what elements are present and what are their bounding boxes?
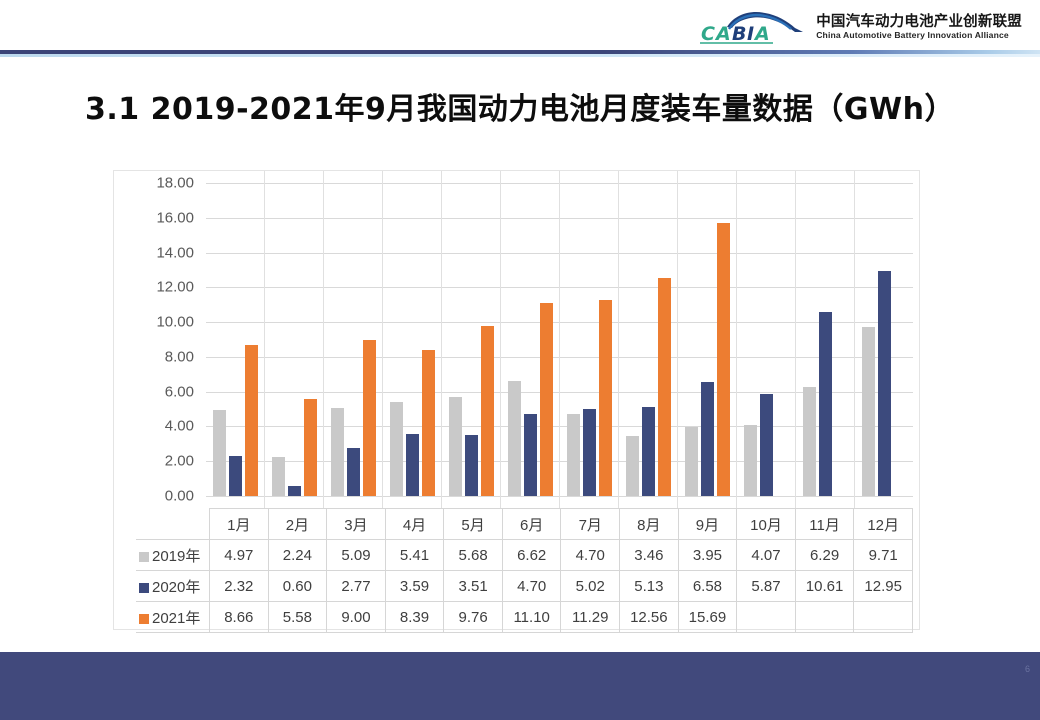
chart-panel: 18.0016.0014.0012.0010.008.006.004.002.0…	[113, 170, 920, 630]
bar-2019年-7月	[567, 414, 580, 496]
table-cell: 3.51	[444, 571, 503, 602]
table-cell: 6.29	[795, 540, 854, 571]
y-axis-tick-label: 12.00	[156, 279, 194, 296]
y-axis-tick-label: 6.00	[165, 383, 194, 400]
table-column-header: 9月	[678, 509, 737, 540]
bar-2021年-9月	[717, 223, 730, 496]
table-cell: 5.13	[620, 571, 679, 602]
table-column-header: 4月	[385, 509, 444, 540]
page-number: 6	[1025, 664, 1030, 674]
bar-2020年-6月	[524, 414, 537, 496]
table-cell: 6.62	[502, 540, 561, 571]
bar-group-12月	[855, 171, 913, 508]
table-column-header: 10月	[737, 509, 796, 540]
table-cell	[737, 602, 796, 633]
table-cell: 5.09	[327, 540, 386, 571]
cabia-name-en: China Automotive Battery Innovation Alli…	[816, 31, 1022, 41]
bar-2021年-4月	[422, 350, 435, 496]
bar-2019年-1月	[213, 410, 226, 496]
bar-group-5月	[442, 171, 501, 508]
table-column-header: 8月	[620, 509, 679, 540]
table-cell: 11.10	[502, 602, 561, 633]
y-axis-tick-label: 8.00	[165, 348, 194, 365]
bar-2020年-7月	[583, 409, 596, 496]
bar-2020年-4月	[406, 434, 419, 496]
table-cell: 15.69	[678, 602, 737, 633]
table-column-header: 6月	[502, 509, 561, 540]
bar-group-3月	[324, 171, 383, 508]
table-column-header: 7月	[561, 509, 620, 540]
bar-2020年-8月	[642, 407, 655, 496]
y-axis: 18.0016.0014.0012.0010.008.006.004.002.0…	[114, 171, 200, 508]
legend-swatch-icon	[139, 614, 149, 624]
svg-text:I: I	[747, 23, 754, 45]
bar-2019年-2月	[272, 457, 285, 496]
bar-group-2月	[265, 171, 324, 508]
table-cell	[854, 602, 913, 633]
bar-2021年-2月	[304, 399, 317, 496]
y-axis-tick-label: 0.00	[165, 488, 194, 505]
cabia-name-cn: 中国汽车动力电池产业创新联盟	[816, 14, 1022, 30]
table-cell: 5.02	[561, 571, 620, 602]
table-cell: 3.59	[385, 571, 444, 602]
table-cell: 9.76	[444, 602, 503, 633]
page-header: C A B I A 中国汽车动力电池产业创新联盟 China Automotiv…	[0, 0, 1040, 52]
bar-2019年-9月	[685, 427, 698, 496]
y-axis-tick-label: 18.00	[156, 175, 194, 192]
table-cell: 9.00	[327, 602, 386, 633]
table-column-header: 1月	[210, 509, 269, 540]
table-column-header: 5月	[444, 509, 503, 540]
bar-2019年-8月	[626, 436, 639, 496]
table-cell: 5.68	[444, 540, 503, 571]
table-cell: 4.70	[502, 571, 561, 602]
legend-swatch-icon	[139, 583, 149, 593]
bar-2020年-2月	[288, 486, 301, 496]
y-axis-tick-label: 4.00	[165, 418, 194, 435]
bar-group-9月	[678, 171, 737, 508]
bar-2019年-5月	[449, 397, 462, 496]
y-axis-tick-label: 14.00	[156, 244, 194, 261]
table-cell: 12.95	[854, 571, 913, 602]
svg-text:C: C	[701, 23, 715, 45]
legend-label: 2021年	[152, 610, 200, 627]
table-cell: 3.95	[678, 540, 737, 571]
table-column-header: 11月	[795, 509, 854, 540]
table-cell: 4.97	[210, 540, 269, 571]
cabia-logo: C A B I A 中国汽车动力电池产业创新联盟 China Automotiv…	[699, 6, 1022, 48]
legend-label: 2020年	[152, 579, 200, 596]
chart-bars	[206, 171, 913, 508]
bar-2021年-6月	[540, 303, 553, 496]
table-column-header: 3月	[327, 509, 386, 540]
footer-band: 6	[0, 652, 1040, 720]
bar-2021年-8月	[658, 278, 671, 496]
legend-item-2019年: 2019年	[136, 540, 210, 571]
table-cell: 0.60	[268, 571, 327, 602]
bar-2021年-5月	[481, 326, 494, 496]
bar-2019年-12月	[862, 327, 875, 496]
bar-2019年-4月	[390, 402, 403, 496]
bar-2019年-11月	[803, 387, 816, 496]
bar-2020年-3月	[347, 448, 360, 496]
y-axis-tick-label: 2.00	[165, 453, 194, 470]
bar-2020年-1月	[229, 456, 242, 496]
table-cell: 9.71	[854, 540, 913, 571]
bar-2021年-1月	[245, 345, 258, 496]
table-cell: 5.87	[737, 571, 796, 602]
table-cell	[795, 602, 854, 633]
bar-group-1月	[206, 171, 265, 508]
page-title: 3.1 2019-2021年9月我国动力电池月度装车量数据（GWh）	[0, 84, 1040, 128]
svg-text:A: A	[753, 23, 770, 45]
table-cell: 2.77	[327, 571, 386, 602]
header-rule-secondary	[0, 54, 1040, 57]
svg-text:B: B	[732, 23, 746, 45]
table-cell: 12.56	[620, 602, 679, 633]
table-row: 2021年8.665.589.008.399.7611.1011.2912.56…	[136, 602, 913, 633]
table-cell: 2.24	[268, 540, 327, 571]
legend-label: 2019年	[152, 548, 200, 565]
y-axis-tick-label: 16.00	[156, 209, 194, 226]
bar-2019年-3月	[331, 408, 344, 497]
bar-2020年-11月	[819, 312, 832, 496]
bar-2021年-3月	[363, 340, 376, 497]
bar-2020年-12月	[878, 271, 891, 496]
table-header-row: 1月2月3月4月5月6月7月8月9月10月11月12月	[136, 509, 913, 540]
bar-2019年-10月	[744, 425, 757, 496]
cabia-logo-text: 中国汽车动力电池产业创新联盟 China Automotive Battery …	[816, 14, 1022, 41]
svg-text:A: A	[714, 23, 731, 45]
bar-2020年-10月	[760, 394, 773, 496]
table-cell: 5.58	[268, 602, 327, 633]
bar-2021年-7月	[599, 300, 612, 496]
bar-group-11月	[796, 171, 855, 508]
table-cell: 11.29	[561, 602, 620, 633]
table-cell: 8.39	[385, 602, 444, 633]
table-corner-cell	[136, 509, 210, 540]
table-row: 2020年2.320.602.773.593.514.705.025.136.5…	[136, 571, 913, 602]
table-cell: 6.58	[678, 571, 737, 602]
table-cell: 5.41	[385, 540, 444, 571]
bar-group-10月	[737, 171, 796, 508]
table-row: 2019年4.972.245.095.415.686.624.703.463.9…	[136, 540, 913, 571]
legend-item-2021年: 2021年	[136, 602, 210, 633]
chart-plot-area: 18.0016.0014.0012.0010.008.006.004.002.0…	[114, 171, 921, 508]
chart-data-table: 1月2月3月4月5月6月7月8月9月10月11月12月2019年4.972.24…	[136, 508, 913, 633]
table-cell: 3.46	[620, 540, 679, 571]
bar-group-8月	[619, 171, 678, 508]
table-cell: 8.66	[210, 602, 269, 633]
bar-2020年-9月	[701, 382, 714, 496]
bar-2020年-5月	[465, 435, 478, 496]
table-cell: 10.61	[795, 571, 854, 602]
table-cell: 2.32	[210, 571, 269, 602]
y-axis-tick-label: 10.00	[156, 314, 194, 331]
cabia-logo-mark-icon: C A B I A	[699, 7, 807, 47]
table-cell: 4.07	[737, 540, 796, 571]
bar-group-4月	[383, 171, 442, 508]
legend-swatch-icon	[139, 552, 149, 562]
legend-item-2020年: 2020年	[136, 571, 210, 602]
bar-2019年-6月	[508, 381, 521, 496]
table-column-header: 2月	[268, 509, 327, 540]
bar-group-7月	[560, 171, 619, 508]
table-cell: 4.70	[561, 540, 620, 571]
bar-group-6月	[501, 171, 560, 508]
table-column-header: 12月	[854, 509, 913, 540]
